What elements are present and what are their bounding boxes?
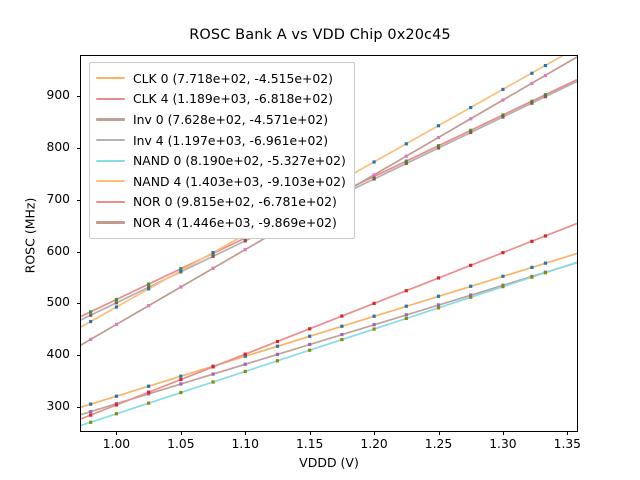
data-point [340, 325, 343, 328]
y-tick-label: 300 [10, 399, 70, 413]
legend-label: Inv 0 (7.628e+02, -4.571e+02) [133, 112, 328, 127]
x-tick-label: 1.25 [409, 437, 469, 451]
legend[interactable]: CLK 0 (7.718e+02, -4.515e+02)CLK 4 (1.18… [89, 62, 355, 239]
data-point [89, 403, 92, 406]
data-point [276, 345, 279, 348]
data-point [179, 269, 182, 272]
legend-label: Inv 4 (1.197e+03, -6.961e+02) [133, 133, 328, 148]
data-point [89, 320, 92, 323]
x-tick [503, 431, 504, 435]
data-point [405, 155, 408, 158]
data-point [89, 338, 92, 341]
legend-label: CLK 4 (1.189e+03, -6.818e+02) [133, 91, 333, 106]
data-point [530, 72, 533, 75]
data-point [372, 315, 375, 318]
data-point [147, 402, 150, 405]
legend-item-nor-0[interactable]: NOR 0 (9.815e+02, -6.781e+02) [96, 192, 346, 213]
series-nand-0 [81, 262, 577, 425]
data-point [437, 276, 440, 279]
data-point [89, 414, 92, 417]
y-tick [77, 96, 81, 97]
data-point [340, 314, 343, 317]
data-point [244, 248, 247, 251]
data-point [405, 313, 408, 316]
data-point [179, 378, 182, 381]
data-point [437, 124, 440, 127]
x-tick-label: 1.15 [280, 437, 340, 451]
data-point [244, 370, 247, 373]
data-point [308, 343, 311, 346]
data-point [530, 82, 533, 85]
data-point [89, 314, 92, 317]
data-point [276, 340, 279, 343]
y-tick-label: 600 [10, 244, 70, 258]
data-point [211, 251, 214, 254]
data-point [89, 310, 92, 313]
series-nor-0 [81, 223, 577, 418]
data-point [179, 382, 182, 385]
data-point [544, 234, 547, 237]
legend-label: NAND 4 (1.403e+03, -9.103e+02) [133, 174, 346, 189]
x-tick [245, 431, 246, 435]
y-tick-label: 900 [10, 88, 70, 102]
legend-swatch [96, 139, 125, 141]
data-point [544, 95, 547, 98]
data-point [372, 323, 375, 326]
data-point [147, 385, 150, 388]
x-tick-label: 1.05 [151, 437, 211, 451]
x-tick-label: 1.30 [473, 437, 533, 451]
x-tick-label: 1.00 [86, 437, 146, 451]
data-point [147, 287, 150, 290]
data-point [147, 283, 150, 286]
data-point [211, 373, 214, 376]
legend-label: CLK 0 (7.718e+02, -4.515e+02) [133, 71, 333, 86]
x-tick [439, 431, 440, 435]
y-tick [77, 407, 81, 408]
legend-swatch [96, 201, 125, 203]
y-tick-label: 700 [10, 192, 70, 206]
data-point [115, 305, 118, 308]
legend-item-nand-0[interactable]: NAND 0 (8.190e+02, -5.327e+02) [96, 150, 346, 171]
data-point [405, 289, 408, 292]
data-point [147, 304, 150, 307]
legend-swatch [96, 98, 125, 100]
legend-swatch [96, 221, 125, 223]
data-point [501, 99, 504, 102]
data-point [405, 142, 408, 145]
data-point [89, 410, 92, 413]
data-point [501, 251, 504, 254]
data-point [405, 162, 408, 165]
data-point [276, 353, 279, 356]
data-point [544, 271, 547, 274]
y-axis-label: ROSC (MHz) [23, 136, 38, 336]
y-tick [77, 148, 81, 149]
data-point [469, 296, 472, 299]
legend-swatch [96, 180, 125, 182]
data-point [340, 333, 343, 336]
data-point [501, 115, 504, 118]
x-tick [567, 431, 568, 435]
legend-item-clk-0[interactable]: CLK 0 (7.718e+02, -4.515e+02) [96, 68, 346, 89]
legend-swatch [96, 160, 125, 162]
y-tick [77, 355, 81, 356]
data-point [405, 317, 408, 320]
data-point [276, 359, 279, 362]
legend-item-inv-0[interactable]: Inv 0 (7.628e+02, -4.571e+02) [96, 109, 346, 130]
data-point [469, 106, 472, 109]
data-point [544, 74, 547, 77]
data-point [115, 403, 118, 406]
data-point [115, 412, 118, 415]
data-point [179, 375, 182, 378]
data-point [211, 365, 214, 368]
data-point [544, 262, 547, 265]
data-point [469, 264, 472, 267]
y-tick [77, 303, 81, 304]
data-point [89, 421, 92, 424]
legend-item-clk-4[interactable]: CLK 4 (1.189e+03, -6.818e+02) [96, 89, 346, 110]
series-clk-0 [81, 253, 577, 407]
data-point [372, 177, 375, 180]
legend-swatch [96, 77, 125, 79]
data-point [340, 338, 343, 341]
x-tick [181, 431, 182, 435]
legend-item-nor-4[interactable]: NOR 4 (1.446e+03, -9.869e+02) [96, 212, 346, 233]
data-point [115, 323, 118, 326]
data-point [211, 267, 214, 270]
legend-swatch [96, 118, 125, 120]
x-tick [310, 431, 311, 435]
data-point [501, 275, 504, 278]
data-point [530, 266, 533, 269]
data-point [244, 353, 247, 356]
legend-label: NAND 0 (8.190e+02, -5.327e+02) [133, 153, 346, 168]
data-point [372, 327, 375, 330]
data-point [437, 295, 440, 298]
data-point [437, 146, 440, 149]
data-point [179, 391, 182, 394]
y-tick-label: 400 [10, 347, 70, 361]
y-tick [77, 200, 81, 201]
data-point [147, 391, 150, 394]
data-point [530, 276, 533, 279]
y-tick-label: 500 [10, 295, 70, 309]
legend-item-nand-4[interactable]: NAND 4 (1.403e+03, -9.103e+02) [96, 171, 346, 192]
data-point [244, 239, 247, 242]
matplotlib-figure: ROSC Bank A vs VDD Chip 0x20c45 1.001.05… [0, 0, 640, 480]
data-point [115, 298, 118, 301]
x-tick-label: 1.20 [344, 437, 404, 451]
x-tick-label: 1.10 [215, 437, 275, 451]
data-point [115, 395, 118, 398]
data-point [530, 240, 533, 243]
data-point [437, 303, 440, 306]
data-point [308, 349, 311, 352]
data-point [308, 327, 311, 330]
data-point [501, 285, 504, 288]
data-point [501, 88, 504, 91]
x-axis-label: VDDD (V) [80, 455, 578, 470]
data-point [211, 255, 214, 258]
data-point [544, 64, 547, 67]
data-point [308, 335, 311, 338]
data-point [469, 131, 472, 134]
x-tick [374, 431, 375, 435]
data-point [211, 380, 214, 383]
x-tick-label: 1.35 [537, 437, 597, 451]
data-point [437, 306, 440, 309]
legend-label: NOR 4 (1.446e+03, -9.869e+02) [133, 215, 337, 230]
legend-item-inv-4[interactable]: Inv 4 (1.197e+03, -6.961e+02) [96, 130, 346, 151]
data-point [372, 160, 375, 163]
data-point [405, 305, 408, 308]
data-point [115, 301, 118, 304]
data-point [530, 102, 533, 105]
data-point [469, 285, 472, 288]
legend-label: NOR 0 (9.815e+02, -6.781e+02) [133, 194, 337, 209]
data-point [179, 285, 182, 288]
page-title: ROSC Bank A vs VDD Chip 0x20c45 [0, 27, 640, 43]
y-tick [77, 252, 81, 253]
data-point [372, 173, 375, 176]
x-tick [116, 431, 117, 435]
data-point [244, 363, 247, 366]
data-point [372, 302, 375, 305]
data-point [437, 136, 440, 139]
data-point [469, 117, 472, 120]
y-tick-label: 800 [10, 140, 70, 154]
